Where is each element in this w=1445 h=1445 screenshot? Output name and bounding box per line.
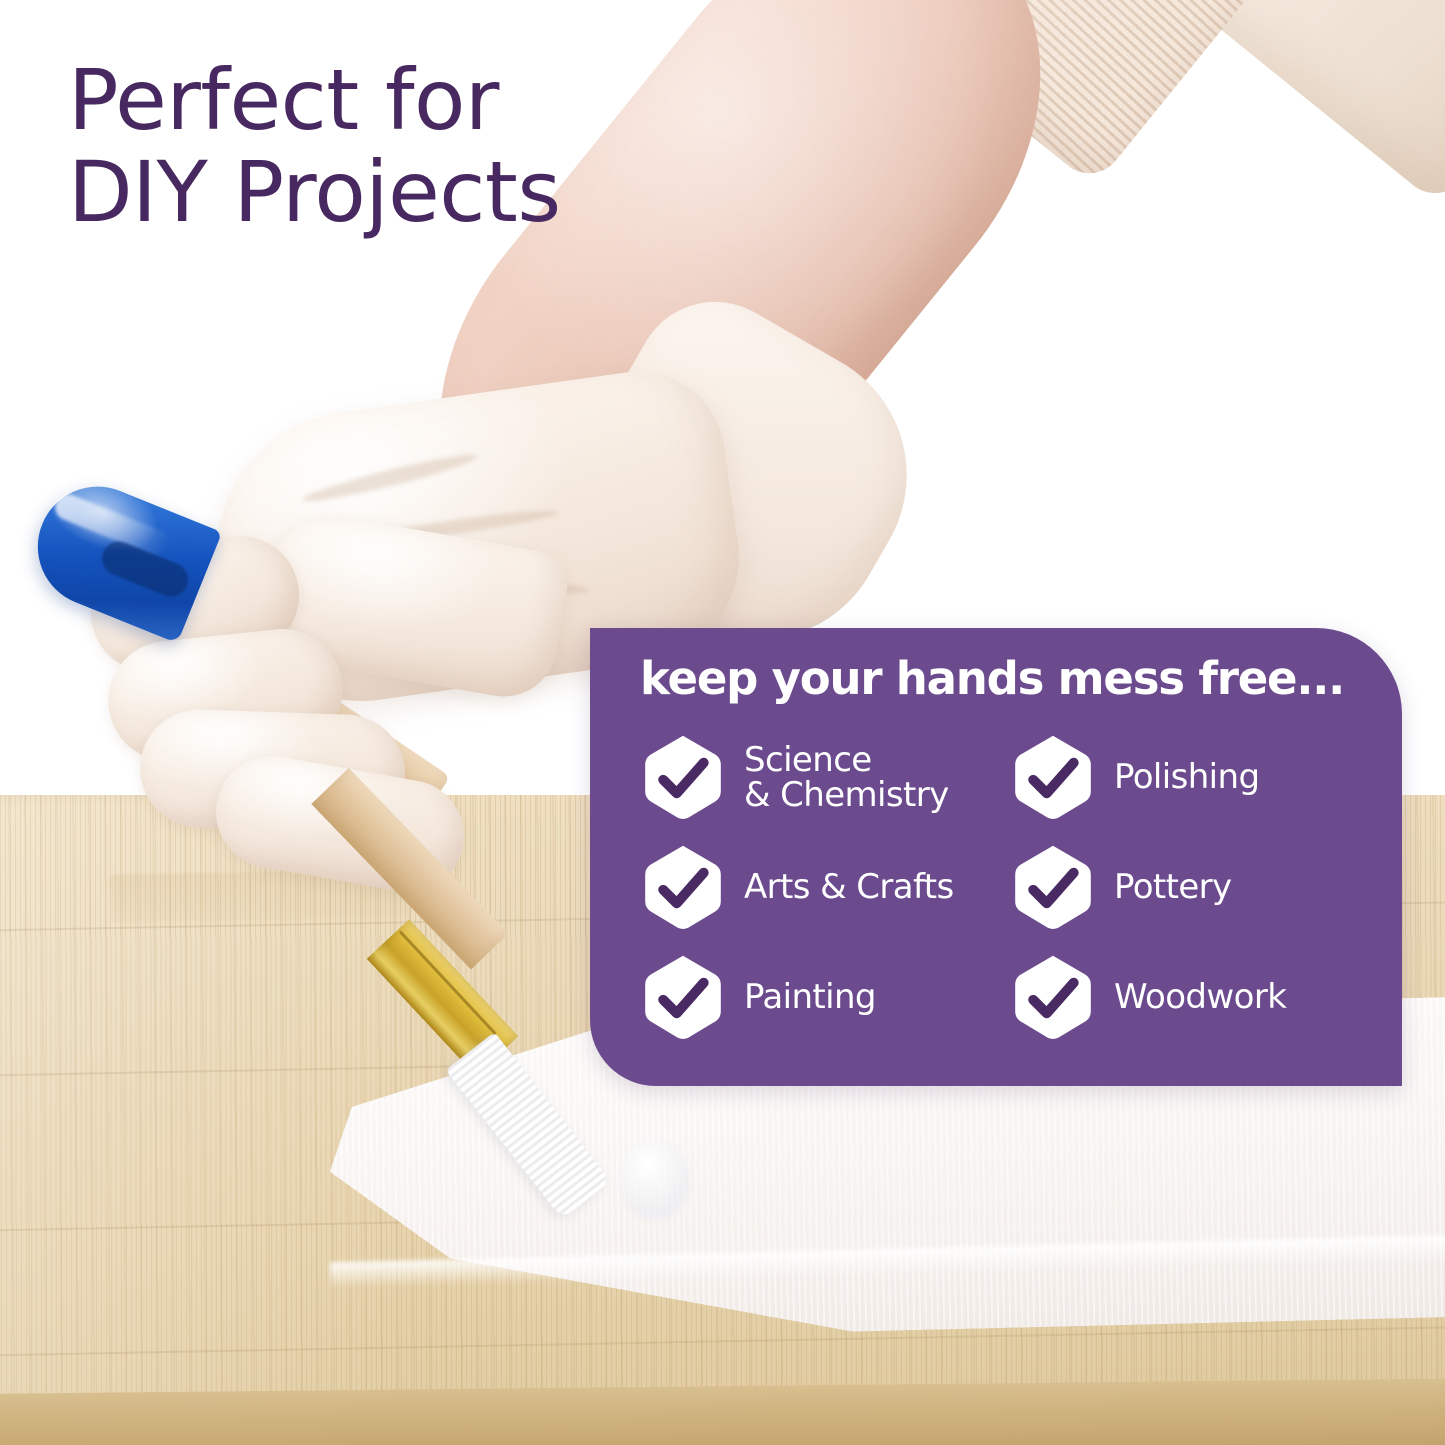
list-item: Painting	[638, 952, 1008, 1044]
features-card-title: keep your hands mess free...	[640, 652, 1344, 705]
check-hexagon-icon	[1008, 733, 1098, 823]
features-column-right: Polishing Pottery	[1008, 732, 1378, 1044]
features-columns: Science & Chemistry Arts & Crafts	[638, 732, 1378, 1044]
list-item-label: Painting	[744, 980, 876, 1015]
product-marketing-image: Perfect for DIY Projects keep your hands…	[0, 0, 1445, 1445]
check-hexagon-icon	[638, 953, 728, 1043]
features-column-left: Science & Chemistry Arts & Crafts	[638, 732, 1008, 1044]
list-item: Science & Chemistry	[638, 732, 1008, 824]
list-item-label: Science & Chemistry	[744, 743, 949, 814]
list-item: Arts & Crafts	[638, 842, 1008, 934]
brush-bristle-tip	[620, 1140, 690, 1220]
list-item: Woodwork	[1008, 952, 1378, 1044]
list-item-label: Pottery	[1114, 870, 1232, 905]
list-item: Polishing	[1008, 732, 1378, 824]
check-hexagon-icon	[1008, 953, 1098, 1043]
check-hexagon-icon	[638, 733, 728, 823]
check-hexagon-icon	[1008, 843, 1098, 933]
list-item: Pottery	[1008, 842, 1378, 934]
features-card: keep your hands mess free... Science & C…	[590, 628, 1402, 1086]
check-hexagon-icon	[638, 843, 728, 933]
list-item-label: Arts & Crafts	[744, 870, 954, 905]
list-item-label: Woodwork	[1114, 980, 1286, 1015]
list-item-label: Polishing	[1114, 760, 1259, 795]
page-title: Perfect for DIY Projects	[68, 54, 561, 239]
